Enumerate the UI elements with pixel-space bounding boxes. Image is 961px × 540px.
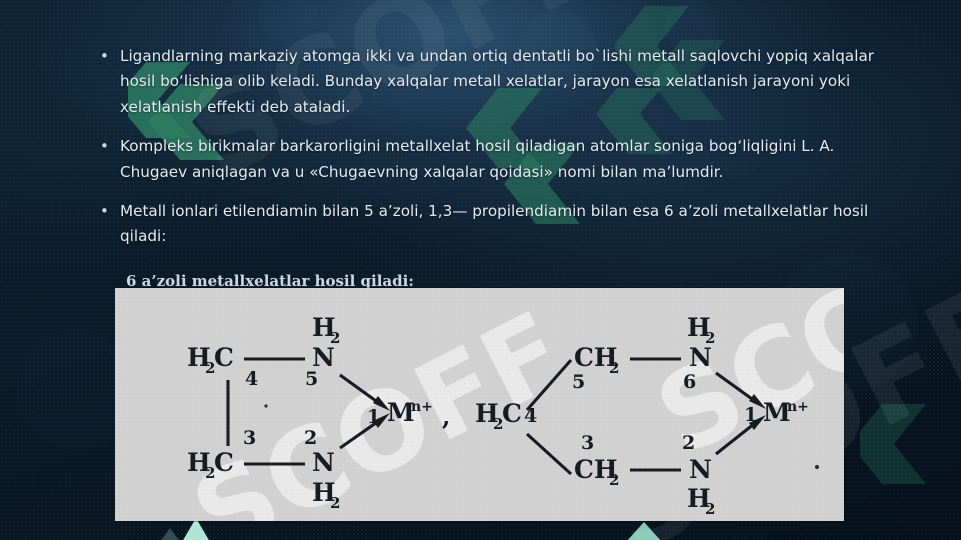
green-diamond-decoration: [860, 404, 950, 524]
right-bottom-n: N: [689, 455, 712, 484]
right-center-carbon-label: H 2 C: [475, 399, 522, 433]
right-top-ch2-sub: 2: [609, 359, 619, 377]
left-ring-number-4: 4: [245, 368, 258, 390]
right-top-nitrogen-label: H 2 N: [687, 313, 715, 372]
left-bottom-nitrogen-label: N H 2: [312, 448, 340, 512]
list-item: • Metall ionlari etilendiamin bilan 5 a’…: [100, 199, 890, 250]
right-bond-upper-diag: [527, 360, 571, 410]
right-ring-number-5: 5: [572, 371, 585, 393]
bullet-marker: •: [100, 44, 120, 120]
scan-speck: [264, 404, 267, 407]
left-top-c: C: [214, 343, 234, 372]
left-top-carbon-label: H 2 C: [187, 343, 234, 377]
left-ring-number-3: 3: [243, 427, 256, 449]
left-ring-number-5: 5: [305, 368, 318, 390]
structure-separator-comma: ,: [442, 402, 450, 431]
bullet-text: Ligandlarning markaziy atomga ikki va un…: [120, 44, 890, 120]
right-coordination-arrows: [716, 373, 766, 454]
right-center-c: C: [502, 399, 522, 428]
left-metal-charge: n+: [411, 399, 433, 415]
chemistry-figure-image: SCOFF SCOFF H 2 C H 2 C H: [115, 288, 844, 521]
right-top-n: N: [689, 343, 712, 372]
right-bond-lower-diag: [527, 434, 571, 474]
right-metal-charge: n+: [787, 399, 809, 415]
left-bottom-n: N: [312, 448, 335, 477]
left-coordination-arrows: [340, 375, 390, 448]
bullet-text: Metall ionlari etilendiamin bilan 5 a’zo…: [120, 199, 890, 250]
left-chelate-structure: H 2 C H 2 C H 2 N N: [187, 313, 433, 512]
right-bottom-n-h-sub: 2: [705, 500, 715, 518]
list-item: • Kompleks birikmalar barkarorligini met…: [100, 134, 890, 185]
left-bottom-c: C: [214, 448, 234, 477]
left-metal-label: M n+: [387, 398, 433, 427]
bullet-marker: •: [100, 134, 120, 185]
bullet-marker: •: [100, 199, 120, 250]
right-ring-number-6: 6: [683, 371, 696, 393]
list-item: • Ligandlarning markaziy atomga ikki va …: [100, 44, 890, 120]
chelate-structures-drawing: H 2 C H 2 C H 2 N N: [115, 288, 844, 521]
right-ring-number-2: 2: [682, 432, 695, 454]
left-ring-number-1: 1: [367, 406, 380, 428]
bullet-text: Kompleks birikmalar barkarorligini metal…: [120, 134, 890, 185]
right-bottom-nitrogen-label: N H 2: [687, 455, 715, 518]
scan-speck: [815, 465, 819, 469]
right-bottom-ch2-label: CH 2: [574, 455, 619, 489]
left-bottom-carbon-label: H 2 C: [187, 448, 234, 482]
right-bottom-ch2-sub: 2: [609, 471, 619, 489]
slide-canvas: SCOFF SCOFF • Ligandlarning markaziy ato…: [0, 0, 961, 540]
left-ring-number-2: 2: [304, 427, 317, 449]
left-bottom-n-h-sub: 2: [330, 494, 340, 512]
right-ring-number-4: 4: [524, 405, 537, 427]
left-top-nitrogen-label: H 2 N: [312, 313, 340, 372]
right-metal-label: M n+: [763, 398, 809, 427]
bullet-list: • Ligandlarning markaziy atomga ikki va …: [100, 44, 890, 250]
right-ring-number-3: 3: [581, 432, 594, 454]
right-chelate-structure: H 2 C CH 2 CH 2 H 2 N: [475, 313, 819, 518]
right-ring-number-1: 1: [744, 404, 757, 426]
